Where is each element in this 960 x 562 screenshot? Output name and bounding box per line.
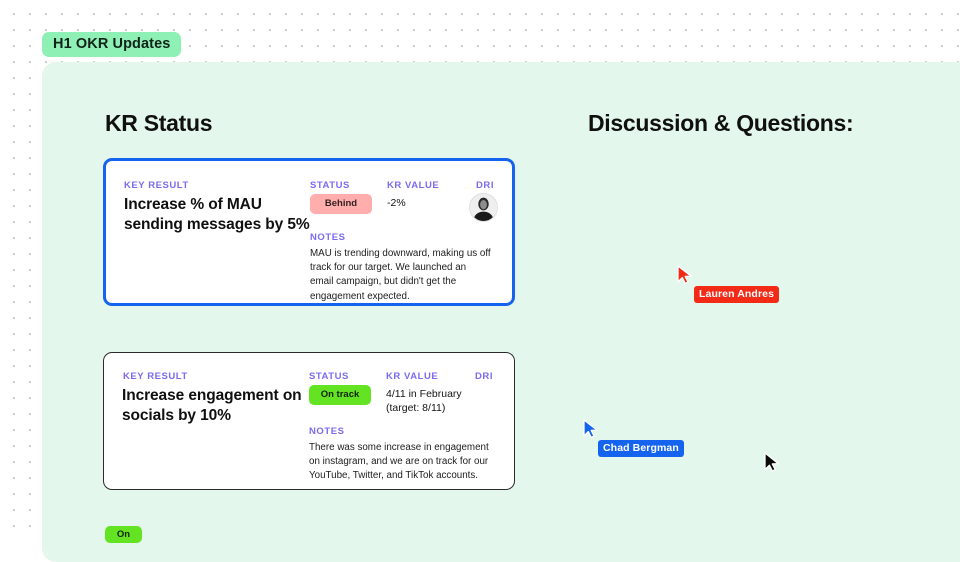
kr-value: -2% xyxy=(387,196,406,210)
column-label-key-result: KEY RESULT xyxy=(123,371,188,382)
kr-status-heading: KR Status xyxy=(105,110,212,137)
collaborator-name-label: Chad Bergman xyxy=(598,440,684,457)
kr-notes: There was some increase in engagement on… xyxy=(309,441,491,484)
mouse-pointer-icon xyxy=(763,452,781,474)
cursor-arrow-icon xyxy=(676,265,694,285)
status-badge-partial[interactable]: On track xyxy=(105,526,142,543)
kr-card[interactable]: KEY RESULT Increase engagement on social… xyxy=(103,352,515,490)
column-label-status: STATUS xyxy=(310,180,350,191)
column-label-notes: NOTES xyxy=(309,426,344,437)
column-label-status: STATUS xyxy=(309,371,349,382)
kr-value: 4/11 in February (target: 8/11) xyxy=(386,387,462,416)
cursor-arrow-icon xyxy=(582,419,600,439)
status-badge[interactable]: Behind xyxy=(310,194,372,214)
frame-title-chip[interactable]: H1 OKR Updates xyxy=(42,32,181,57)
kr-title: Increase engagement on socials by 10% xyxy=(122,386,312,426)
discussion-questions-heading: Discussion & Questions: xyxy=(588,110,853,137)
column-label-dri: DRI xyxy=(475,371,493,382)
column-label-key-result: KEY RESULT xyxy=(124,180,189,191)
kr-notes: MAU is trending downward, making us off … xyxy=(310,247,492,304)
kr-card[interactable]: KEY RESULT Increase % of MAU sending mes… xyxy=(103,158,515,306)
avatar[interactable] xyxy=(469,193,498,222)
column-label-notes: NOTES xyxy=(310,232,345,243)
column-label-kr-value: KR VALUE xyxy=(386,371,438,382)
collaborator-name-label: Lauren Andres xyxy=(694,286,779,303)
kr-title: Increase % of MAU sending messages by 5% xyxy=(124,195,314,235)
status-badge[interactable]: On track xyxy=(309,385,371,405)
column-label-dri: DRI xyxy=(476,180,494,191)
column-label-kr-value: KR VALUE xyxy=(387,180,439,191)
